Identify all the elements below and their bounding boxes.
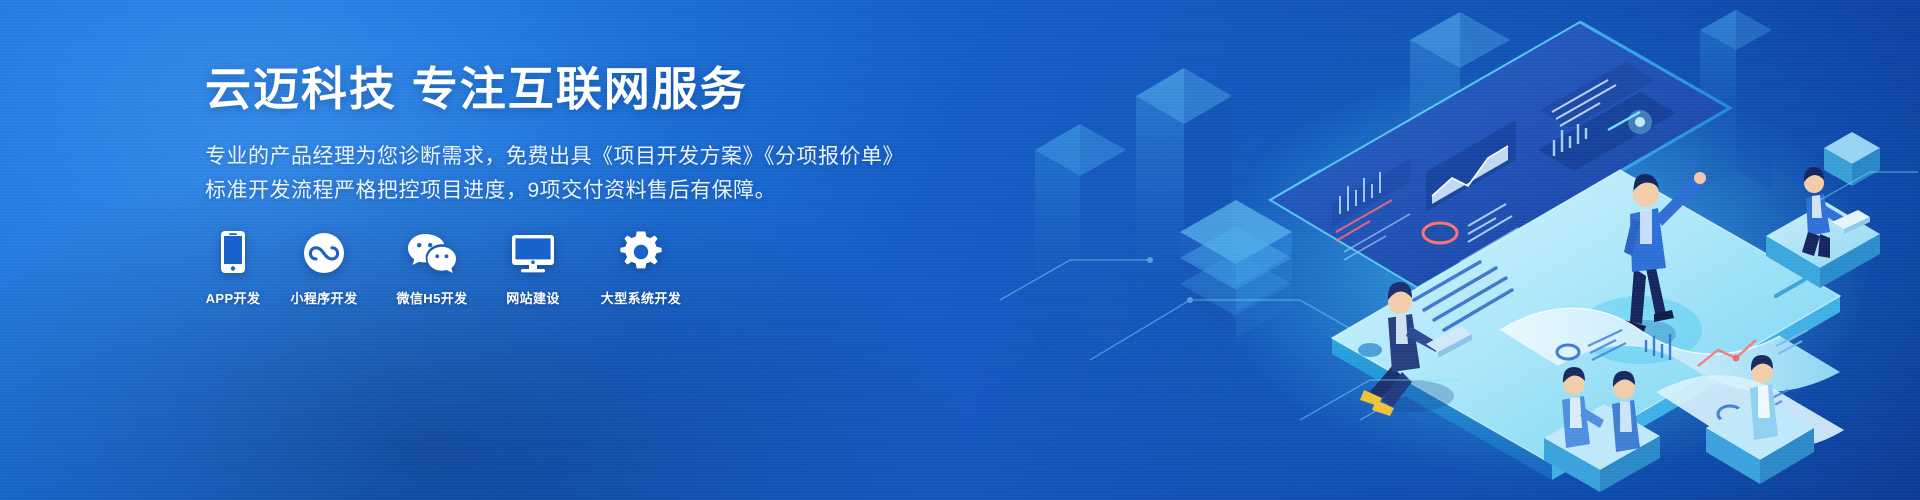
service-list: APP开发 小程序开发 微信 — [205, 228, 693, 307]
page-title: 云迈科技 专注互联网服务 — [205, 62, 925, 116]
gear-icon — [619, 228, 663, 274]
hero-banner: 云迈科技 专注互联网服务 专业的产品经理为您诊断需求，免费出具《项目开发方案》《… — [0, 0, 1920, 500]
service-label: 微信H5开发 — [396, 288, 467, 307]
monitor-icon — [511, 228, 555, 274]
service-label: 大型系统开发 — [601, 288, 681, 307]
mini-program-icon — [303, 228, 345, 274]
hero-subtitle-line-2: 标准开发流程严格把控项目进度，9项交付资料售后有保障。 — [205, 174, 925, 208]
wechat-icon — [407, 228, 457, 274]
service-label: 小程序开发 — [290, 288, 357, 307]
service-item-mini-program[interactable]: 小程序开发 — [281, 228, 367, 307]
service-label: 网站建设 — [506, 288, 560, 307]
hero-copy: 云迈科技 专注互联网服务 专业的产品经理为您诊断需求，免费出具《项目开发方案》《… — [205, 62, 925, 208]
service-item-website[interactable]: 网站建设 — [497, 228, 569, 307]
mobile-phone-icon — [220, 228, 246, 274]
isometric-data-dashboard-illustration — [940, 0, 1920, 500]
hero-subtitle-line-1: 专业的产品经理为您诊断需求，免费出具《项目开发方案》《分项报价单》 — [205, 145, 904, 168]
service-label: APP开发 — [206, 288, 261, 307]
service-item-wechat[interactable]: 微信H5开发 — [387, 228, 477, 307]
service-item-app[interactable]: APP开发 — [205, 228, 261, 307]
hero-subtitle: 专业的产品经理为您诊断需求，免费出具《项目开发方案》《分项报价单》 标准开发流程… — [205, 140, 925, 208]
service-item-large-system[interactable]: 大型系统开发 — [589, 228, 693, 307]
